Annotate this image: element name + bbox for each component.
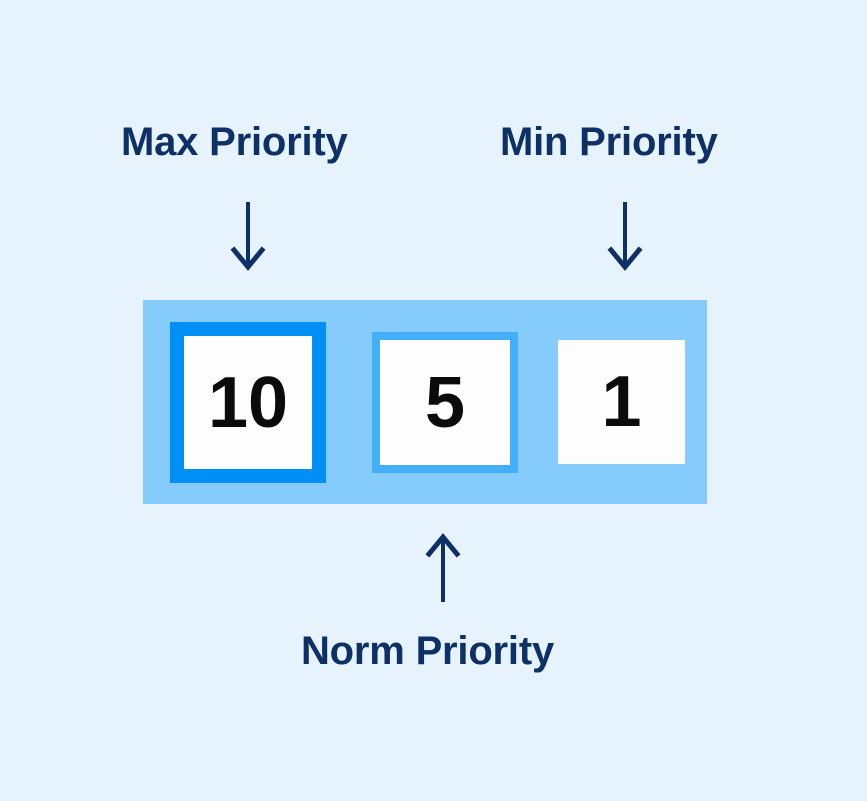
arrow-down-icon xyxy=(605,200,645,277)
priority-box-list: 10 5 1 xyxy=(143,300,707,504)
priority-diagram: Max Priority Min Priority 10 5 1 Norm Pr… xyxy=(0,0,867,801)
priority-box-min[interactable]: 1 xyxy=(558,340,685,464)
arrow-up-icon xyxy=(423,532,463,609)
max-priority-label: Max Priority xyxy=(121,122,348,162)
priority-box-max[interactable]: 10 xyxy=(170,322,326,483)
priority-band: 10 5 1 xyxy=(143,300,707,504)
priority-box-norm[interactable]: 5 xyxy=(372,332,518,473)
norm-priority-label: Norm Priority xyxy=(301,631,554,671)
min-priority-label: Min Priority xyxy=(500,122,718,162)
arrow-down-icon xyxy=(228,200,268,277)
